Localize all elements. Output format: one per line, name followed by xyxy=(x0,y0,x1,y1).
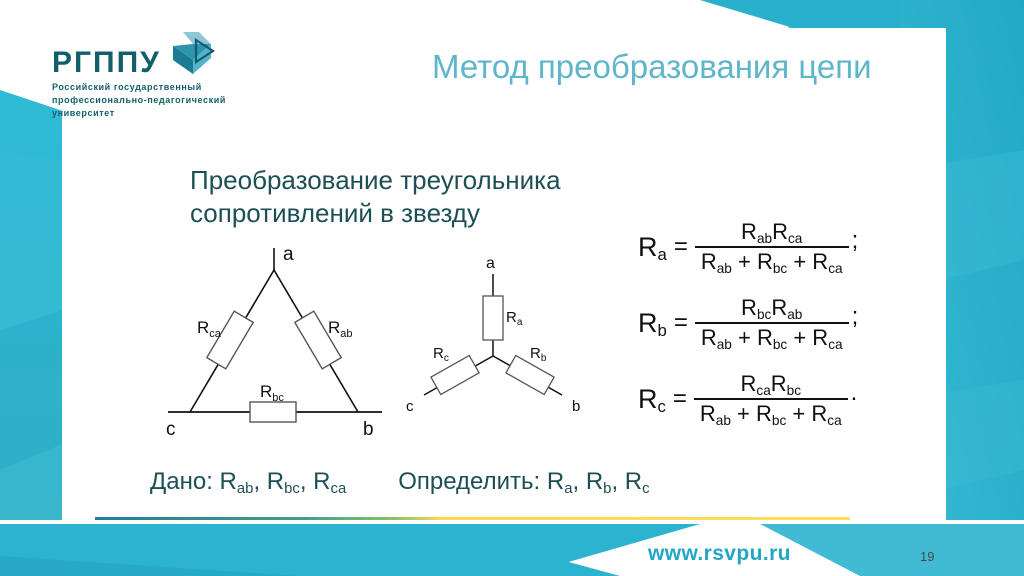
slide-title: Метод преобразования цепи xyxy=(432,48,872,86)
formula-rc-fraction: RcaRbc Rab + Rbc + Rca xyxy=(694,370,848,428)
formula-ra-punct: ; xyxy=(852,227,859,255)
formula-ra-numerator: RabRca xyxy=(735,218,808,246)
formula-ra-lhs: Ra xyxy=(638,232,667,263)
formula-rb-lhs: Rb xyxy=(638,308,667,339)
footer-website[interactable]: www.rsvpu.ru xyxy=(648,542,791,566)
delta-node-label-a: a xyxy=(283,244,294,265)
wye-node-label-b: b xyxy=(572,398,580,415)
formula-list: Ra = RabRca Rab + Rbc + Rca ; Rb = RbcRa… xyxy=(638,218,858,446)
formula-rb-punct: ; xyxy=(852,303,859,331)
formula-rc: Rc = RcaRbc Rab + Rbc + Rca . xyxy=(638,370,858,428)
slide-subtitle: Преобразование треугольника сопротивлени… xyxy=(190,164,561,229)
formula-rc-denominator: Rab + Rbc + Rca xyxy=(694,400,848,428)
delta-node-label-b: b xyxy=(363,419,374,440)
formula-rc-lhs: Rc xyxy=(638,384,666,415)
rgppu-diamond-emblem-icon xyxy=(163,30,215,78)
resistor-ra xyxy=(483,296,503,340)
resistor-rbc xyxy=(250,402,296,422)
wye-node-label-a: a xyxy=(486,255,495,272)
given-label: Дано: xyxy=(150,468,213,495)
resistor-rbc-label: Rbc xyxy=(260,382,284,404)
resistor-rca-label: Rca xyxy=(197,318,222,340)
wye-network-diagram: a Ra Rc Rb c b xyxy=(400,248,600,428)
find-values: Ra, Rb, Rc xyxy=(547,468,650,495)
find-label: Определить: xyxy=(398,468,540,495)
delta-node-label-c: c xyxy=(166,419,176,440)
resistor-rb-label: Rb xyxy=(530,345,547,364)
formula-ra-equals: = xyxy=(674,233,688,261)
resistor-rca xyxy=(207,311,253,369)
resistor-rab-label: Rab xyxy=(328,318,353,340)
formula-rb-denominator: Rab + Rbc + Rca xyxy=(695,324,849,352)
given-block: Дано: Rab, Rbc, Rca xyxy=(150,468,346,496)
resistor-ra-label: Ra xyxy=(506,309,523,328)
formula-rb-numerator: RbcRab xyxy=(735,294,808,322)
given-values: Rab, Rbc, Rca xyxy=(220,468,347,495)
given-find-row: Дано: Rab, Rbc, Rca Определить: Ra, Rb, … xyxy=(150,468,650,496)
formula-rb-fraction: RbcRab Rab + Rbc + Rca xyxy=(695,294,849,352)
rgppu-logo: РГППУ Российский государственный професс… xyxy=(52,30,226,120)
find-block: Определить: Ra, Rb, Rc xyxy=(398,468,649,496)
page-number: 19 xyxy=(920,549,934,564)
resistor-rc-label: Rc xyxy=(433,345,449,364)
logo-acronym: РГППУ xyxy=(52,48,161,78)
formula-rc-punct: . xyxy=(851,379,858,407)
formula-rc-equals: = xyxy=(673,385,687,413)
formula-ra-fraction: RabRca Rab + Rbc + Rca xyxy=(695,218,849,276)
logo-fullname: Российский государственный профессиональ… xyxy=(52,81,226,120)
accent-rule xyxy=(95,517,850,520)
formula-rc-numerator: RcaRbc xyxy=(734,370,807,398)
formula-rb-equals: = xyxy=(674,309,688,337)
delta-network-diagram: a Rca Rab Rbc c b xyxy=(150,240,405,445)
formula-ra: Ra = RabRca Rab + Rbc + Rca ; xyxy=(638,218,858,276)
slide-canvas: РГППУ Российский государственный професс… xyxy=(0,0,1024,576)
wye-node-label-c: c xyxy=(406,398,414,415)
formula-rb: Rb = RbcRab Rab + Rbc + Rca ; xyxy=(638,294,858,352)
formula-ra-denominator: Rab + Rbc + Rca xyxy=(695,248,849,276)
